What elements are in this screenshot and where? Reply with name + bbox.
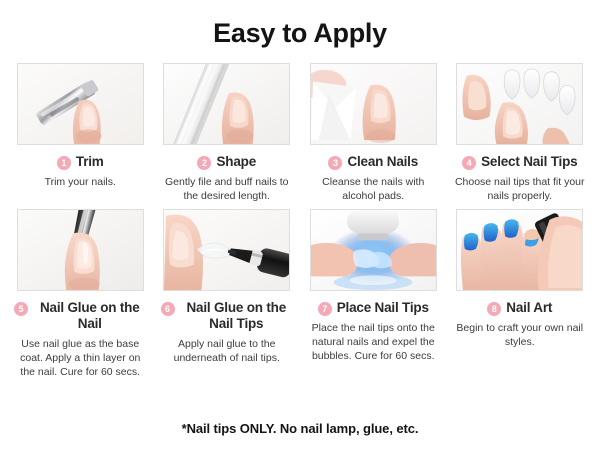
step-description: Gently file and buff nails to the desire… bbox=[161, 175, 294, 203]
infographic-page: Easy to Apply bbox=[0, 0, 600, 450]
step-title: Nail Glue on the Nail bbox=[33, 300, 147, 332]
blue-nail-art-photo bbox=[456, 209, 583, 291]
page-title: Easy to Apply bbox=[0, 0, 600, 49]
step-title: Select Nail Tips bbox=[481, 154, 577, 170]
step-title: Nail Art bbox=[506, 300, 552, 316]
step-card-3: 3 Clean Nails Cleanse the nails with alc… bbox=[307, 63, 440, 203]
step-description: Trim your nails. bbox=[14, 175, 147, 189]
step-heading-8: 8 Nail Art bbox=[454, 300, 587, 316]
step-description: Use nail glue as the base coat. Apply a … bbox=[14, 337, 147, 380]
step-title: Shape bbox=[216, 154, 256, 170]
step-number-badge: 4 bbox=[462, 156, 476, 170]
step-title: Clean Nails bbox=[347, 154, 418, 170]
step-number-badge: 5 bbox=[14, 302, 28, 316]
step-card-6: 6 Nail Glue on the Nail Tips Apply nail … bbox=[161, 209, 294, 379]
steps-row-2: 5 Nail Glue on the Nail Use nail glue as… bbox=[0, 209, 600, 379]
step-heading-6: 6 Nail Glue on the Nail Tips bbox=[161, 300, 294, 332]
step-description: Cleanse the nails with alcohol pads. bbox=[307, 175, 440, 203]
step-heading-4: 4 Select Nail Tips bbox=[454, 154, 587, 170]
step-number-badge: 1 bbox=[57, 156, 71, 170]
step-description: Apply nail glue to the underneath of nai… bbox=[161, 337, 294, 365]
step-title: Trim bbox=[76, 154, 104, 170]
step-title: Place Nail Tips bbox=[337, 300, 429, 316]
uv-lamp-curing-photo bbox=[310, 209, 437, 291]
step-card-2: 2 Shape Gently file and buff nails to th… bbox=[161, 63, 294, 203]
step-heading-2: 2 Shape bbox=[161, 154, 294, 170]
step-description: Place the nail tips onto the natural nai… bbox=[307, 321, 440, 364]
step-description: Begin to craft your own nail styles. bbox=[454, 321, 587, 349]
step-heading-1: 1 Trim bbox=[14, 154, 147, 170]
nail-file-photo bbox=[163, 63, 290, 145]
footer-note: *Nail tips ONLY. No nail lamp, glue, etc… bbox=[0, 421, 600, 436]
step-number-badge: 8 bbox=[487, 302, 501, 316]
step-number-badge: 7 bbox=[318, 302, 332, 316]
step-card-5: 5 Nail Glue on the Nail Use nail glue as… bbox=[14, 209, 147, 379]
alcohol-pad-photo bbox=[310, 63, 437, 145]
step-card-4: 4 Select Nail Tips Choose nail tips that… bbox=[454, 63, 587, 203]
step-number-badge: 3 bbox=[328, 156, 342, 170]
glue-brush-on-nail-photo bbox=[17, 209, 144, 291]
step-card-1: 1 Trim Trim your nails. bbox=[14, 63, 147, 203]
step-card-7: 7 Place Nail Tips Place the nail tips on… bbox=[307, 209, 440, 379]
step-title: Nail Glue on the Nail Tips bbox=[180, 300, 294, 332]
step-heading-5: 5 Nail Glue on the Nail bbox=[14, 300, 147, 332]
step-card-8: 8 Nail Art Begin to craft your own nail … bbox=[454, 209, 587, 379]
glue-brush-on-tip-photo bbox=[163, 209, 290, 291]
nail-clipper-photo bbox=[17, 63, 144, 145]
steps-row-1: 1 Trim Trim your nails. bbox=[0, 63, 600, 203]
step-description: Choose nail tips that fit your nails pro… bbox=[454, 175, 587, 203]
step-heading-3: 3 Clean Nails bbox=[307, 154, 440, 170]
step-heading-7: 7 Place Nail Tips bbox=[307, 300, 440, 316]
step-number-badge: 2 bbox=[197, 156, 211, 170]
step-number-badge: 6 bbox=[161, 302, 175, 316]
nail-tips-selection-photo bbox=[456, 63, 583, 145]
